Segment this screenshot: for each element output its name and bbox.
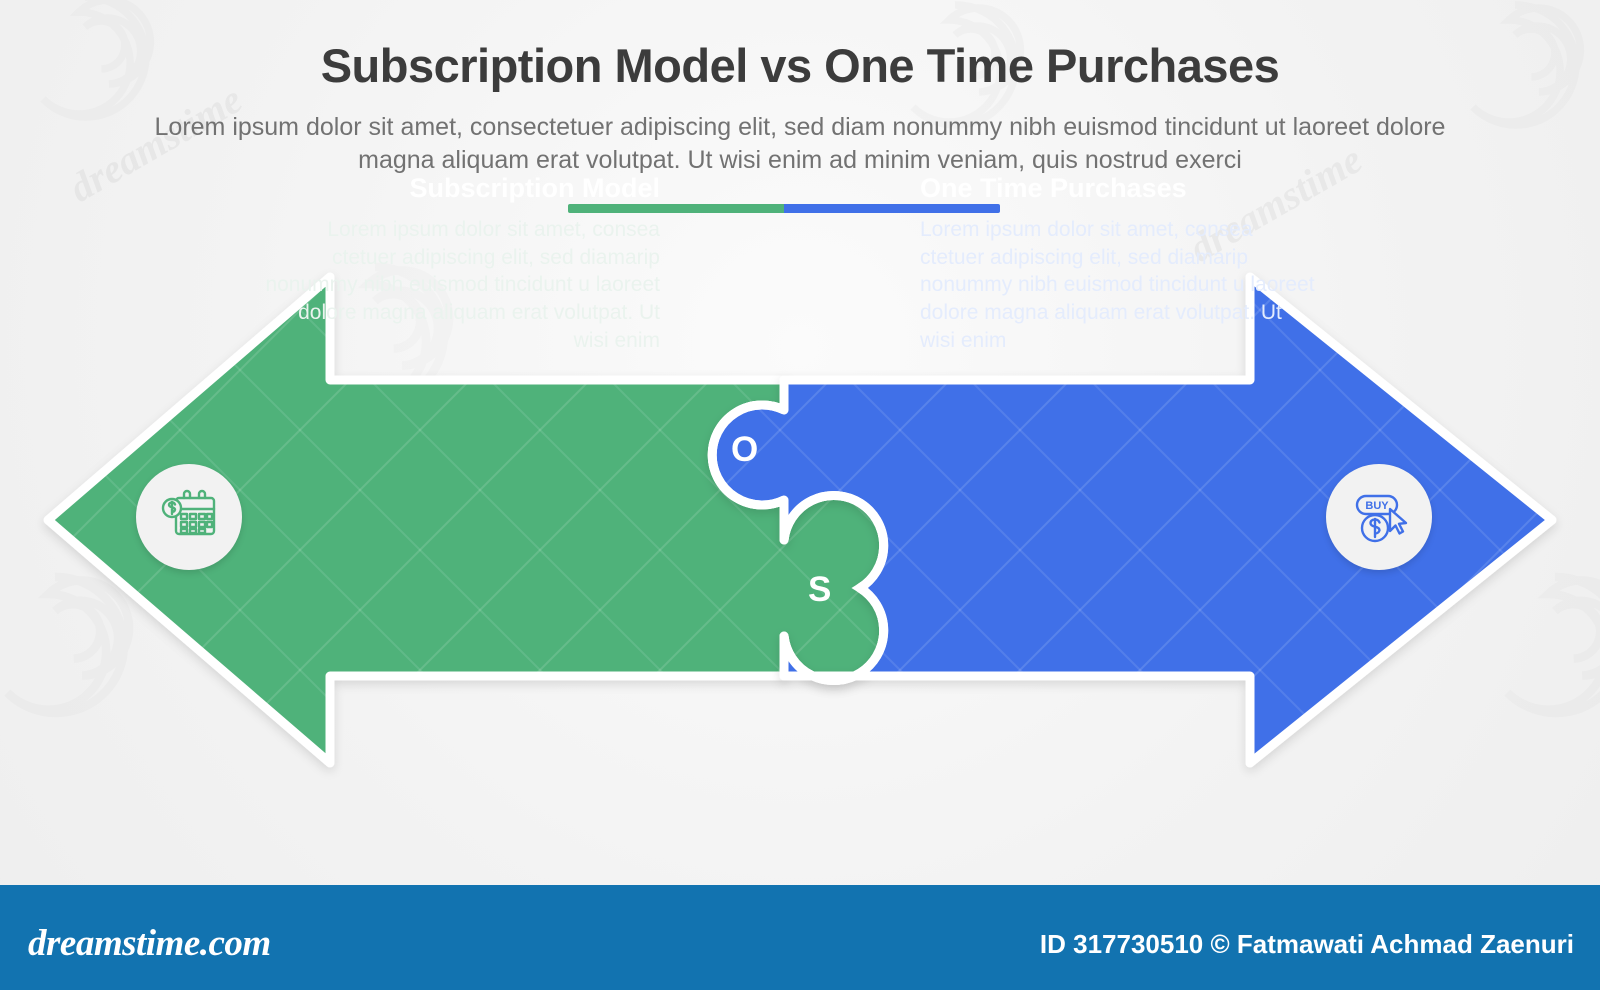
- page-title: Subscription Model vs One Time Purchases: [0, 0, 1600, 93]
- panel-heading-subscription: Subscription Model: [260, 173, 660, 204]
- calendar-dollar-icon: [155, 481, 223, 554]
- footer-bar: dreamstime.com ID 317730510 © Fatmawati …: [0, 885, 1600, 990]
- buy-icon-label: BUY: [1365, 500, 1389, 512]
- panel-heading-onetime: One Time Purchases: [920, 173, 1320, 204]
- header: Subscription Model vs One Time Purchases…: [0, 0, 1600, 177]
- knob-letter-o: O: [731, 432, 758, 467]
- knob-letter-s: S: [808, 572, 831, 607]
- image-credit: ID 317730510 © Fatmawati Achmad Zaenuri: [1040, 929, 1574, 960]
- panel-subscription-model: Subscription Model Lorem ipsum dolor sit…: [260, 173, 660, 355]
- panel-one-time-purchases: One Time Purchases Lorem ipsum dolor sit…: [920, 173, 1320, 355]
- page-subtitle: Lorem ipsum dolor sit amet, consectetuer…: [150, 111, 1450, 177]
- icon-bubble-onetime: BUY: [1326, 464, 1432, 570]
- buy-cursor-dollar-icon: BUY: [1345, 481, 1413, 554]
- brand-text: dreamstime.com: [28, 923, 271, 964]
- dreamstime-logo[interactable]: dreamstime.com: [28, 922, 271, 965]
- icon-bubble-subscription: [136, 464, 242, 570]
- page-background: dreamstime dreamstime dreamstime dreamst…: [0, 0, 1600, 990]
- panel-body-onetime: Lorem ipsum dolor sit amet, consea ctetu…: [920, 216, 1320, 355]
- panel-body-subscription: Lorem ipsum dolor sit amet, consea ctetu…: [260, 216, 660, 355]
